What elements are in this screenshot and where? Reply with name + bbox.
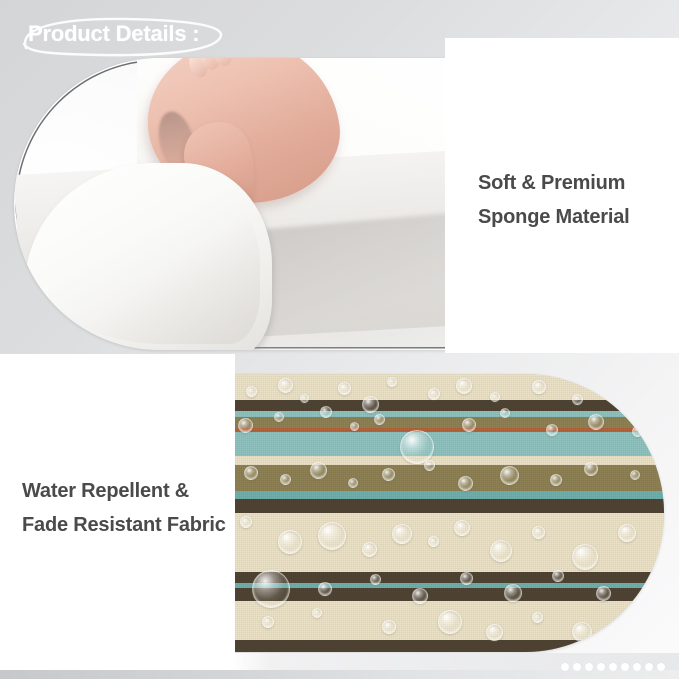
water-droplet bbox=[614, 384, 627, 397]
page-title-group: Product Details : bbox=[14, 14, 244, 58]
water-droplet bbox=[338, 382, 351, 395]
water-droplet bbox=[588, 414, 604, 430]
water-droplet bbox=[280, 474, 291, 485]
water-droplet bbox=[572, 622, 592, 642]
sponge-caption-line2: Sponge Material bbox=[478, 200, 629, 234]
water-droplet bbox=[546, 424, 558, 436]
water-droplet bbox=[246, 386, 257, 397]
water-droplet bbox=[438, 610, 462, 634]
water-droplet bbox=[320, 406, 332, 418]
water-droplet bbox=[462, 418, 476, 432]
water-droplet bbox=[572, 394, 583, 405]
water-droplet bbox=[456, 378, 472, 394]
water-droplet bbox=[550, 474, 562, 486]
water-droplet bbox=[532, 526, 545, 539]
water-droplet bbox=[490, 392, 500, 402]
pagination-dot[interactable] bbox=[657, 663, 665, 671]
water-droplet bbox=[238, 418, 253, 433]
water-droplet bbox=[458, 476, 473, 491]
water-droplet bbox=[532, 380, 546, 394]
water-droplet bbox=[428, 388, 440, 400]
fabric-photo bbox=[232, 374, 664, 652]
water-droplet bbox=[318, 582, 332, 596]
water-droplet bbox=[348, 478, 358, 488]
sponge-caption: Soft & Premium Sponge Material bbox=[478, 166, 629, 234]
page-title: Product Details : bbox=[28, 21, 199, 47]
water-droplet bbox=[486, 624, 503, 641]
pagination-dots[interactable] bbox=[561, 663, 665, 671]
water-droplet bbox=[300, 394, 309, 403]
water-droplet bbox=[374, 414, 385, 425]
fabric-caption-line1: Water Repellent & bbox=[22, 474, 226, 508]
water-droplet bbox=[262, 616, 274, 628]
water-droplet bbox=[630, 470, 640, 480]
water-droplet bbox=[387, 377, 397, 387]
product-details-page: Product Details : Soft & Premium Sponge … bbox=[0, 0, 679, 679]
water-droplet bbox=[310, 462, 327, 479]
water-droplet bbox=[500, 466, 519, 485]
water-droplet bbox=[382, 620, 396, 634]
water-droplet bbox=[584, 462, 598, 476]
fabric-caption: Water Repellent & Fade Resistant Fabric bbox=[22, 474, 226, 542]
water-droplet bbox=[552, 570, 564, 582]
water-droplet bbox=[504, 584, 522, 602]
pagination-dot[interactable] bbox=[621, 663, 629, 671]
bottom-shade bbox=[0, 670, 679, 679]
water-droplet bbox=[252, 570, 290, 608]
water-droplet bbox=[278, 378, 293, 393]
water-droplet bbox=[618, 524, 636, 542]
sponge-caption-panel: Soft & Premium Sponge Material bbox=[445, 38, 679, 353]
water-droplet bbox=[460, 572, 473, 585]
pagination-dot[interactable] bbox=[585, 663, 593, 671]
water-droplet bbox=[424, 460, 435, 471]
fabric-caption-line2: Fade Resistant Fabric bbox=[22, 508, 226, 542]
water-droplet bbox=[350, 422, 359, 431]
pagination-dot[interactable] bbox=[561, 663, 569, 671]
fabric-caption-panel: Water Repellent & Fade Resistant Fabric bbox=[0, 354, 235, 665]
pagination-dot[interactable] bbox=[633, 663, 641, 671]
water-droplet bbox=[382, 468, 395, 481]
pagination-dot[interactable] bbox=[573, 663, 581, 671]
water-droplet bbox=[632, 426, 643, 437]
water-droplet bbox=[244, 466, 258, 480]
water-droplet bbox=[412, 588, 428, 604]
water-droplet bbox=[400, 430, 434, 464]
water-droplets bbox=[232, 374, 664, 652]
water-droplet bbox=[532, 612, 543, 623]
water-droplet bbox=[362, 542, 377, 557]
pagination-dot[interactable] bbox=[597, 663, 605, 671]
water-droplet bbox=[240, 516, 252, 528]
water-droplet bbox=[572, 544, 598, 570]
water-droplet bbox=[596, 586, 611, 601]
water-droplet bbox=[312, 608, 322, 618]
water-droplet bbox=[624, 610, 637, 623]
pagination-dot[interactable] bbox=[609, 663, 617, 671]
water-droplet bbox=[278, 530, 302, 554]
water-droplet bbox=[362, 396, 379, 413]
water-droplet bbox=[274, 412, 284, 422]
pagination-dot[interactable] bbox=[645, 663, 653, 671]
water-droplet bbox=[500, 408, 510, 418]
water-droplet bbox=[392, 524, 412, 544]
water-droplet bbox=[454, 520, 470, 536]
sponge-caption-line1: Soft & Premium bbox=[478, 166, 629, 200]
water-droplet bbox=[370, 574, 381, 585]
water-droplet bbox=[490, 540, 512, 562]
water-droplet bbox=[318, 522, 346, 550]
water-droplet bbox=[428, 536, 439, 547]
